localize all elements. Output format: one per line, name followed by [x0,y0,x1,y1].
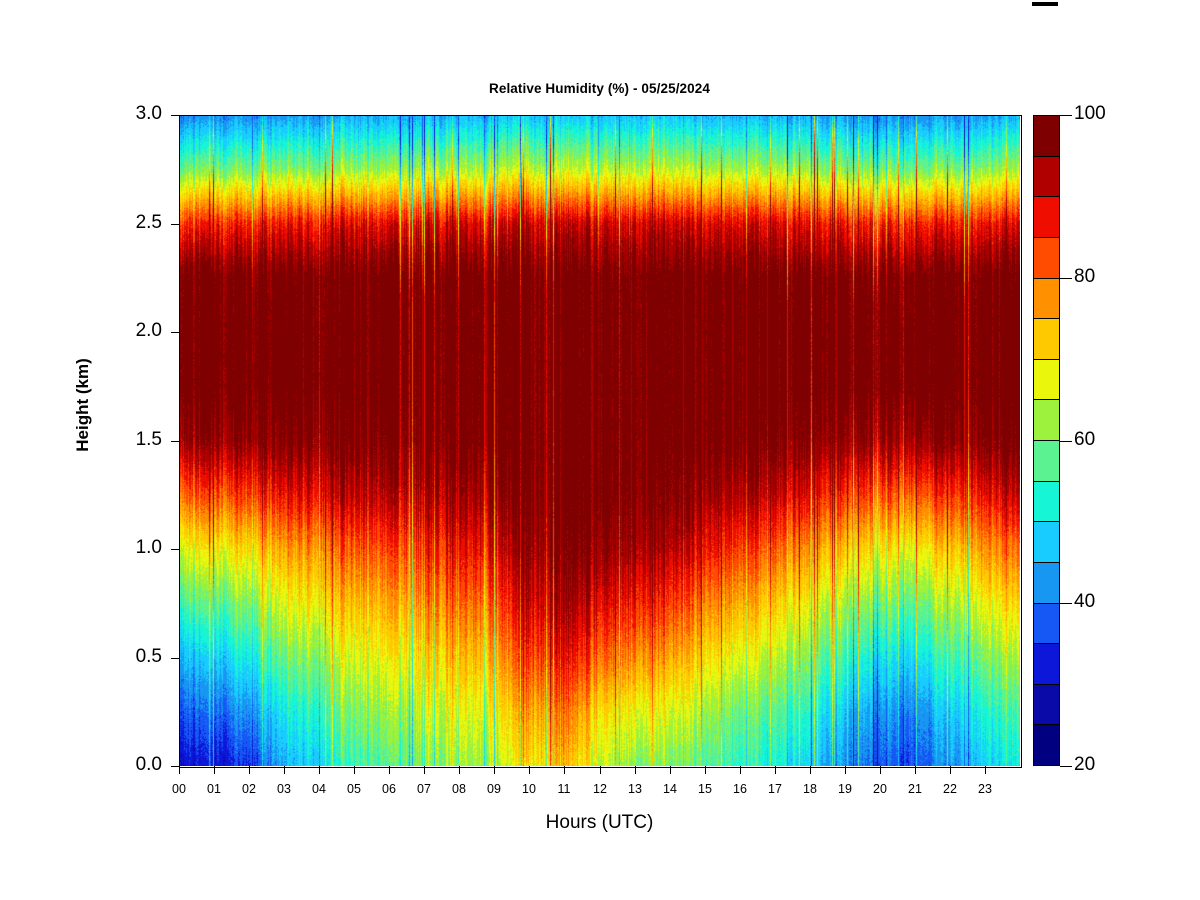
x-tick-label-12: 12 [580,782,620,796]
colorbar-band-7 [1034,400,1059,441]
y-tick-mark-1.0 [171,549,179,550]
y-tick-label-1.5: 1.5 [54,429,162,451]
x-tick-mark-20 [880,766,881,774]
x-tick-label-15: 15 [685,782,725,796]
x-tick-mark-10 [529,766,530,774]
colorbar-band-1 [1034,157,1059,198]
x-tick-label-00: 00 [159,782,199,796]
y-axis-label: Height (km) [73,305,93,505]
x-tick-mark-11 [564,766,565,774]
y-tick-mark-2.0 [171,332,179,333]
colorbar-band-8 [1034,441,1059,482]
x-tick-label-11: 11 [544,782,584,796]
x-tick-label-19: 19 [825,782,865,796]
heatmap-canvas[interactable] [179,115,1020,766]
colorbar-band-14 [1034,685,1059,726]
x-tick-mark-23 [985,766,986,774]
x-tick-label-20: 20 [860,782,900,796]
colorbar-band-6 [1034,360,1059,401]
x-tick-label-03: 03 [264,782,304,796]
colorbar-band-0 [1034,116,1059,157]
colorbar-tick-mark-20 [1060,766,1072,767]
y-tick-label-2.5: 2.5 [54,212,162,234]
y-tick-mark-1.5 [171,441,179,442]
x-tick-label-06: 06 [369,782,409,796]
y-tick-mark-2.5 [171,224,179,225]
colorbar-tick-mark-60 [1060,441,1072,442]
x-tick-mark-13 [635,766,636,774]
colorbar-tick-label-40: 40 [1074,591,1095,613]
x-tick-mark-12 [600,766,601,774]
x-tick-mark-07 [424,766,425,774]
y-tick-label-0.5: 0.5 [54,646,162,668]
x-tick-mark-01 [214,766,215,774]
x-tick-mark-00 [179,766,180,774]
x-tick-label-07: 07 [404,782,444,796]
x-tick-mark-02 [249,766,250,774]
colorbar-tick-mark-100 [1060,115,1072,116]
x-tick-label-16: 16 [720,782,760,796]
colorbar-tick-mark-40 [1060,603,1072,604]
x-tick-mark-08 [459,766,460,774]
x-tick-label-05: 05 [334,782,374,796]
x-tick-label-23: 23 [965,782,1005,796]
x-axis-label: Hours (UTC) [179,812,1020,834]
x-tick-label-14: 14 [650,782,690,796]
colorbar-band-10 [1034,522,1059,563]
colorbar-tick-label-20: 20 [1074,754,1095,776]
colorbar[interactable] [1033,115,1060,766]
colorbar-band-5 [1034,319,1059,360]
x-tick-label-04: 04 [299,782,339,796]
y-tick-mark-3.0 [171,115,179,116]
corner-marker [1032,2,1058,6]
colorbar-tick-mark-80 [1060,278,1072,279]
x-tick-label-09: 09 [474,782,514,796]
colorbar-band-9 [1034,482,1059,523]
x-tick-label-02: 02 [229,782,269,796]
colorbar-tick-label-100: 100 [1074,103,1106,125]
x-tick-mark-19 [845,766,846,774]
x-tick-mark-03 [284,766,285,774]
x-tick-label-17: 17 [755,782,795,796]
x-tick-label-01: 01 [194,782,234,796]
y-tick-mark-0.0 [171,766,179,767]
colorbar-band-11 [1034,563,1059,604]
y-tick-mark-0.5 [171,658,179,659]
colorbar-band-13 [1034,644,1059,685]
x-tick-mark-21 [915,766,916,774]
x-tick-mark-09 [494,766,495,774]
colorbar-tick-label-80: 80 [1074,266,1095,288]
x-tick-mark-05 [354,766,355,774]
x-tick-mark-14 [670,766,671,774]
x-tick-mark-18 [810,766,811,774]
x-tick-label-21: 21 [895,782,935,796]
x-tick-mark-16 [740,766,741,774]
figure-canvas: Relative Humidity (%) - 05/25/2024 0.00.… [0,0,1200,900]
x-tick-mark-22 [950,766,951,774]
x-tick-label-18: 18 [790,782,830,796]
colorbar-tick-label-60: 60 [1074,429,1095,451]
y-tick-label-2.0: 2.0 [54,320,162,342]
colorbar-band-15 [1034,725,1059,765]
y-tick-label-1.0: 1.0 [54,537,162,559]
colorbar-band-4 [1034,279,1059,320]
x-tick-label-22: 22 [930,782,970,796]
x-tick-mark-17 [775,766,776,774]
x-tick-mark-06 [389,766,390,774]
x-tick-label-10: 10 [509,782,549,796]
heatmap-plot-area[interactable] [179,115,1020,766]
page-title: Relative Humidity (%) - 05/25/2024 [179,81,1020,96]
x-tick-label-13: 13 [615,782,655,796]
x-tick-mark-04 [319,766,320,774]
colorbar-band-2 [1034,197,1059,238]
colorbar-band-12 [1034,604,1059,645]
y-tick-label-3.0: 3.0 [54,103,162,125]
colorbar-band-3 [1034,238,1059,279]
x-tick-label-08: 08 [439,782,479,796]
x-tick-mark-15 [705,766,706,774]
y-tick-label-0.0: 0.0 [54,754,162,776]
